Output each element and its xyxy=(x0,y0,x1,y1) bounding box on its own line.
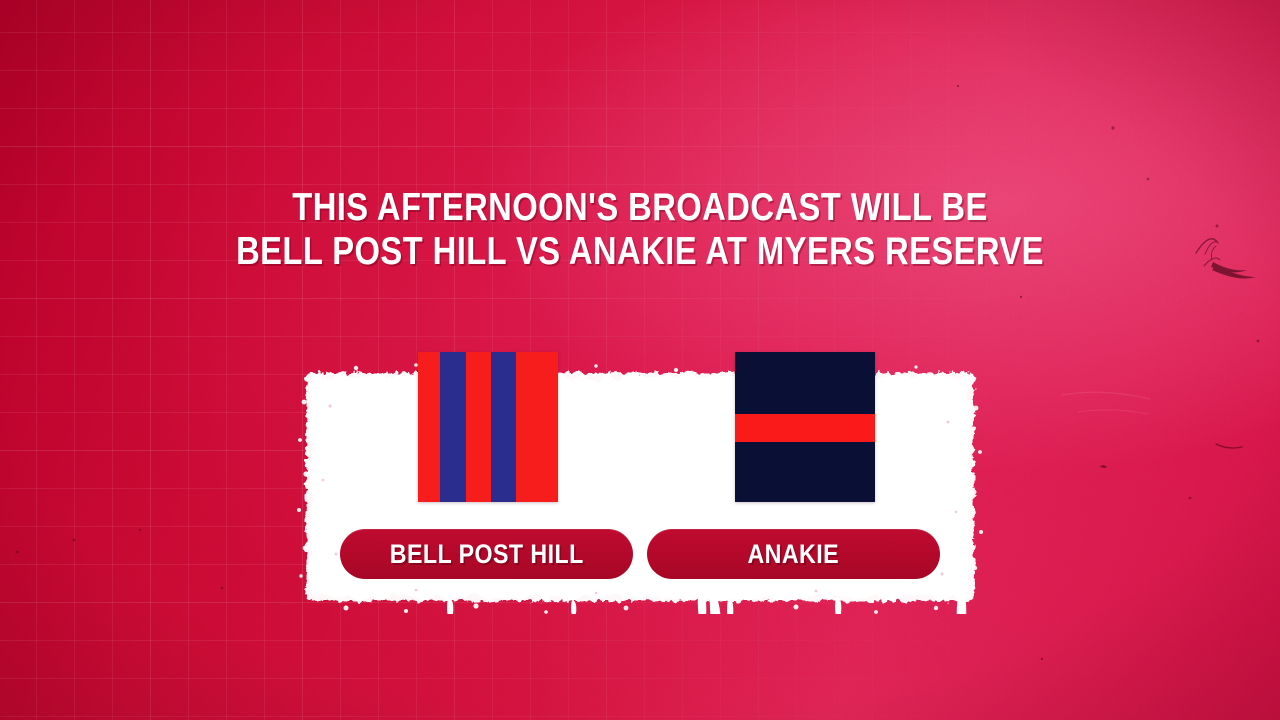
crest-stripe-4 xyxy=(491,352,516,502)
headline: THIS AFTERNOON'S BROADCAST WILL BE BELL … xyxy=(0,186,1280,274)
team-pill-away[interactable]: ANAKIE xyxy=(647,529,940,579)
team-pill-away-label: ANAKIE xyxy=(748,539,840,570)
crest-band-bottom xyxy=(735,442,875,502)
team-pill-home-label: BELL POST HILL xyxy=(390,539,584,570)
team-pill-home[interactable]: BELL POST HILL xyxy=(340,529,633,579)
broadcast-graphic: THIS AFTERNOON'S BROADCAST WILL BE BELL … xyxy=(0,0,1280,720)
crest-stripe-3 xyxy=(466,352,491,502)
headline-line-2: BELL POST HILL VS ANAKIE AT MYERS RESERV… xyxy=(102,230,1177,274)
crest-band-middle xyxy=(735,414,875,443)
headline-line-1: THIS AFTERNOON'S BROADCAST WILL BE xyxy=(102,186,1177,230)
matchup-content: BELL POST HILL ANAKIE xyxy=(296,340,984,615)
crest-stripe-1 xyxy=(418,352,440,502)
crest-band-top xyxy=(735,352,875,414)
crest-stripe-group xyxy=(418,352,558,502)
crest-stripe-5 xyxy=(516,352,558,502)
crest-band-group xyxy=(735,352,875,502)
team-crest-home[interactable] xyxy=(418,352,558,502)
team-pill-row: BELL POST HILL ANAKIE xyxy=(340,529,940,579)
crest-stripe-2 xyxy=(440,352,465,502)
team-crest-away[interactable] xyxy=(735,352,875,502)
